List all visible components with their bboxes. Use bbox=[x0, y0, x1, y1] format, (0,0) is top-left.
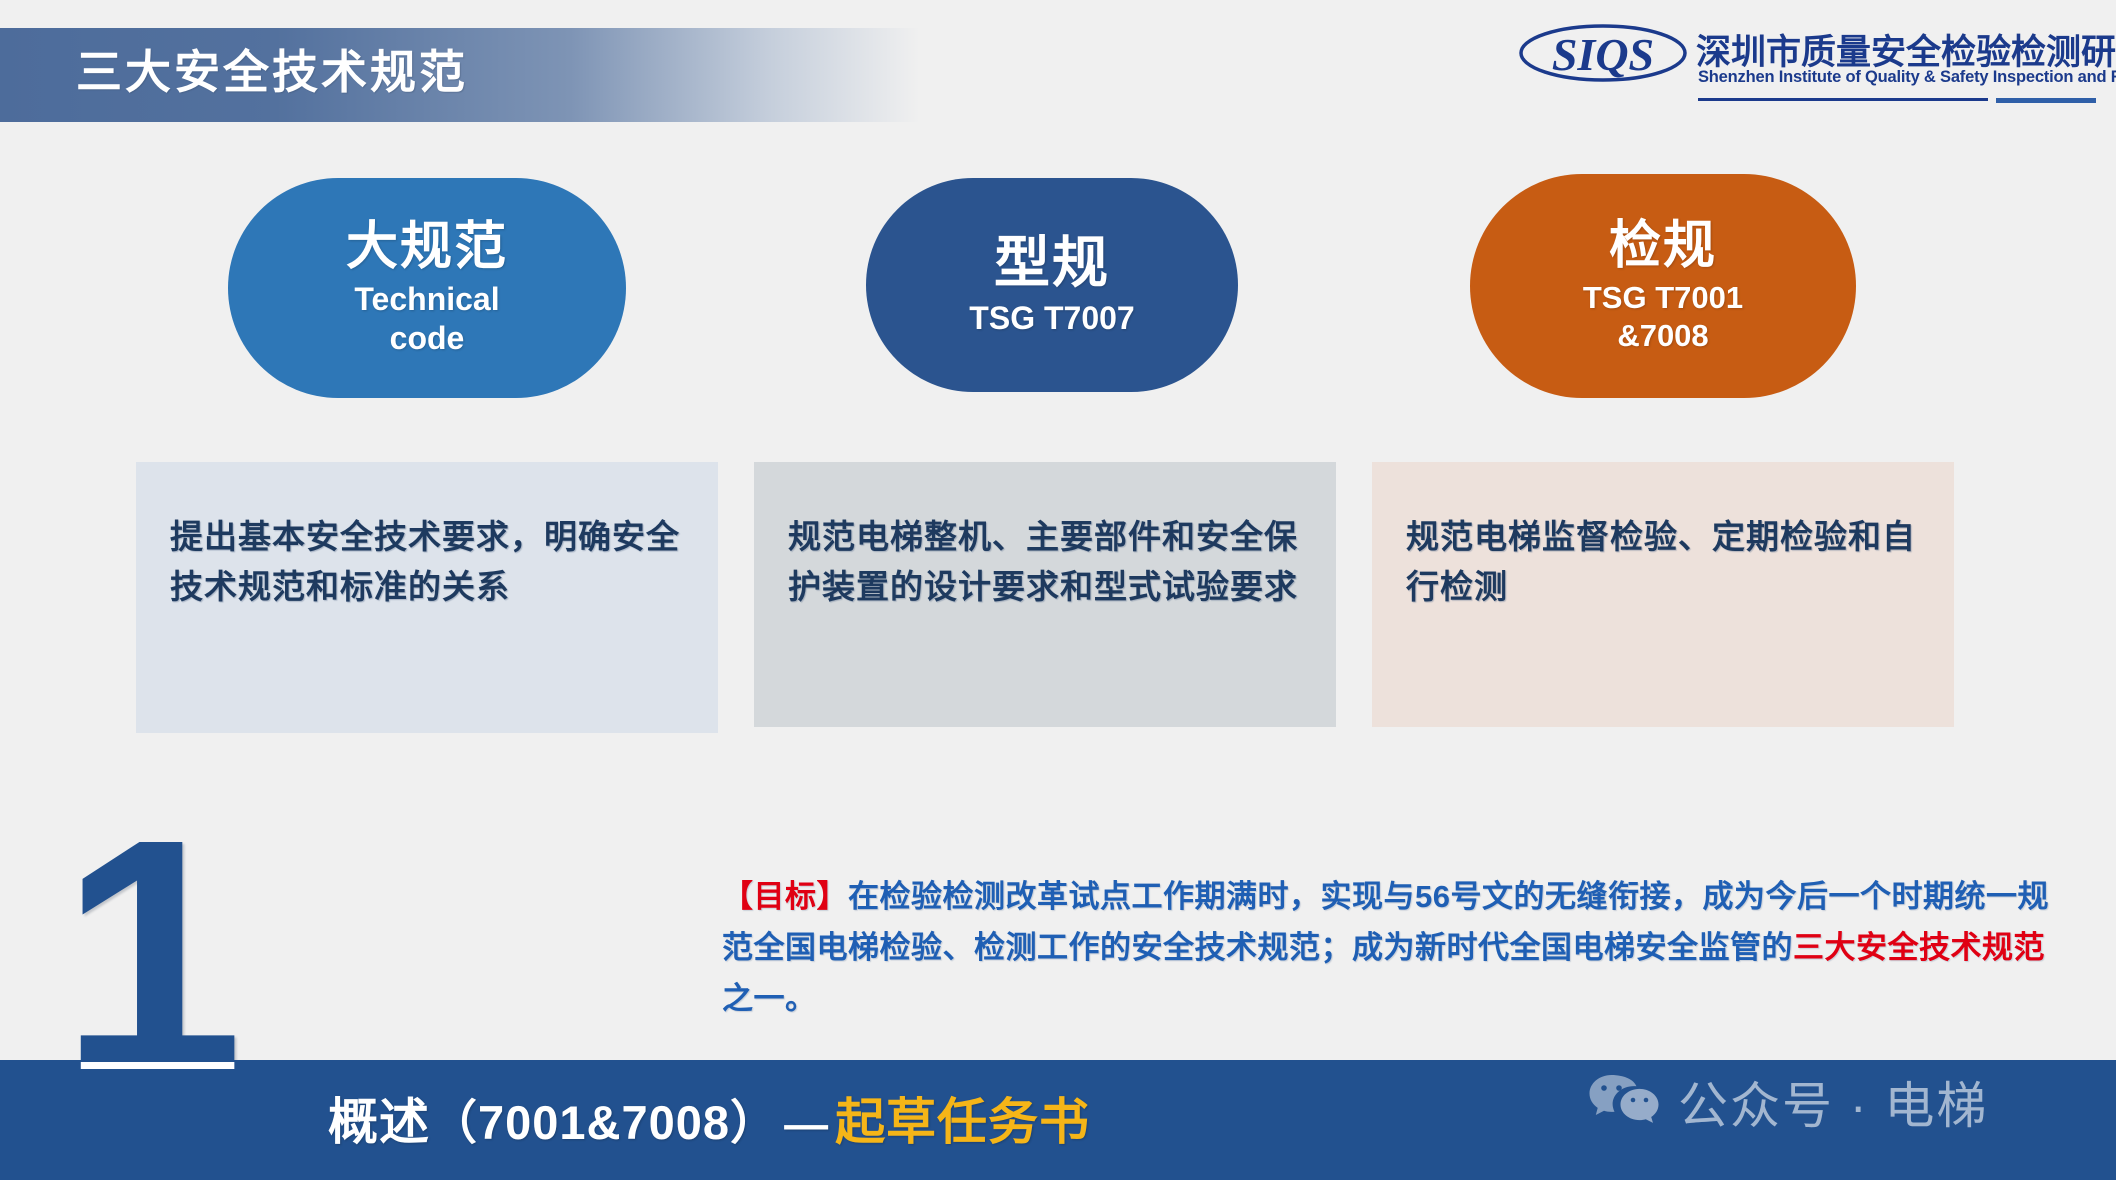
footer-title-code: （7001&7008） bbox=[430, 1096, 778, 1149]
pill-label-sub-2: &7008 bbox=[1617, 317, 1708, 355]
pill-label-sub-1: Technical bbox=[354, 280, 499, 319]
wechat-watermark: 公众号 · 电梯 bbox=[1588, 1066, 1988, 1138]
pill-type-code[interactable]: 型规 TSG T7007 bbox=[866, 178, 1238, 392]
page-title: 三大安全技术规范 bbox=[76, 36, 468, 102]
svg-text:SIQS: SIQS bbox=[1552, 29, 1654, 80]
pill-label-sub-1: TSG T7007 bbox=[969, 299, 1134, 338]
watermark-text: 公众号 · 电梯 bbox=[1678, 1066, 1988, 1138]
goal-paragraph: 【目标】在检验检测改革试点工作期满时，实现与56号文的无缝衔接，成为今后一个时期… bbox=[722, 872, 2074, 1024]
logo-name-en: Shenzhen Institute of Quality & Safety I… bbox=[1698, 68, 2116, 87]
card-type-code-description: 规范电梯整机、主要部件和安全保护装置的设计要求和型式试验要求 bbox=[754, 462, 1336, 727]
card-technical-code-description: 提出基本安全技术要求，明确安全技术规范和标准的关系 bbox=[136, 462, 718, 733]
card-inspection-code-description: 规范电梯监督检验、定期检验和自行检测 bbox=[1372, 462, 1954, 727]
pill-label-sub-2: code bbox=[390, 319, 465, 358]
pill-inspection-code[interactable]: 检规 TSG T7001 &7008 bbox=[1470, 174, 1856, 398]
logo-rule-left bbox=[1698, 98, 1988, 101]
pill-label-cn: 检规 bbox=[1609, 217, 1717, 275]
footer-title-highlight: 起草任务书 bbox=[835, 1094, 1090, 1150]
footer-title-cn: 概述 bbox=[328, 1094, 430, 1150]
pill-label-cn: 型规 bbox=[994, 232, 1110, 295]
pill-technical-code[interactable]: 大规范 Technical code bbox=[228, 178, 626, 398]
organization-logo: SIQS 深圳市质量安全检验检测研究院 Shenzhen Institute o… bbox=[1518, 14, 2098, 106]
pill-label-cn: 大规范 bbox=[346, 218, 508, 276]
footer-title: 概述（7001&7008）—起草任务书 bbox=[328, 1082, 1090, 1154]
siqs-logo-icon: SIQS bbox=[1518, 22, 1688, 84]
logo-rule-right bbox=[1996, 98, 2096, 103]
goal-body-part2: 之一。 bbox=[722, 981, 817, 1016]
slide-canvas: 三大安全技术规范 SIQS 深圳市质量安全检验检测研究院 Shenzhen In… bbox=[0, 0, 2116, 1180]
goal-highlight: 三大安全技术规范 bbox=[1793, 930, 2045, 965]
footer-title-dash: — bbox=[778, 1100, 835, 1149]
pill-label-sub-1: TSG T7001 bbox=[1583, 279, 1743, 317]
wechat-icon bbox=[1588, 1073, 1660, 1131]
goal-label: 【目标】 bbox=[722, 879, 848, 914]
